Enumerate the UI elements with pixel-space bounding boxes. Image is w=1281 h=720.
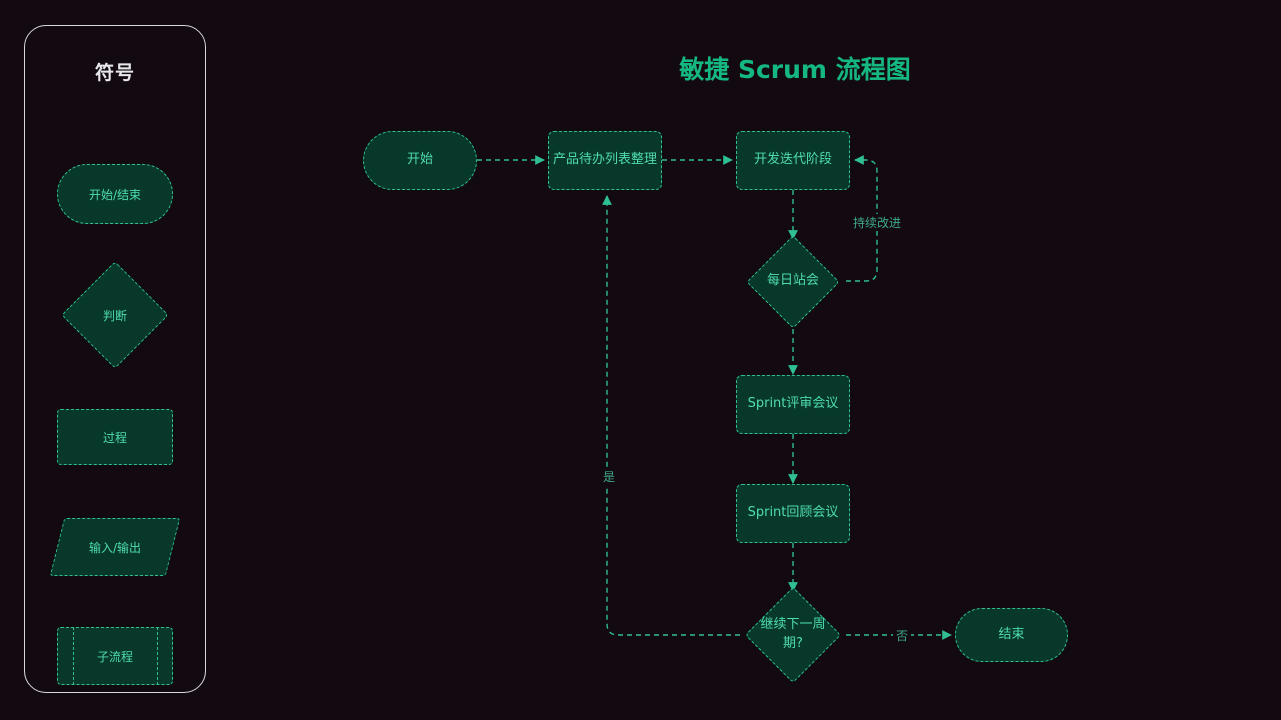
node-review-label: Sprint评审会议 — [748, 395, 839, 414]
node-start-label: 开始 — [407, 151, 433, 170]
edge-layer — [0, 0, 1281, 720]
node-retro[interactable]: Sprint回顾会议 — [736, 484, 850, 543]
node-review[interactable]: Sprint评审会议 — [736, 375, 850, 434]
node-standup-diamond — [746, 235, 839, 328]
node-backlog-label: 产品待办列表整理 — [553, 151, 657, 170]
node-retro-label: Sprint回顾会议 — [748, 504, 839, 523]
node-continue[interactable]: 继续下一周期? — [740, 592, 846, 678]
node-standup[interactable]: 每日站会 — [740, 243, 846, 320]
node-iteration-label: 开发迭代阶段 — [754, 151, 832, 170]
node-continue-diamond — [745, 587, 841, 683]
node-iteration[interactable]: 开发迭代阶段 — [736, 131, 850, 190]
node-end-label: 结束 — [998, 626, 1024, 645]
node-backlog[interactable]: 产品待办列表整理 — [548, 131, 662, 190]
flowchart-canvas: 符号 开始/结束 判断 过程 输入/输出 — [0, 0, 1281, 720]
node-end[interactable]: 结束 — [955, 608, 1068, 662]
edge-label-no: 否 — [893, 627, 911, 644]
node-start[interactable]: 开始 — [363, 131, 477, 190]
edge-label-continuous-improvement: 持续改进 — [850, 214, 904, 231]
edge-label-yes: 是 — [600, 468, 618, 485]
edge-continue-to-backlog-yes — [607, 196, 740, 635]
